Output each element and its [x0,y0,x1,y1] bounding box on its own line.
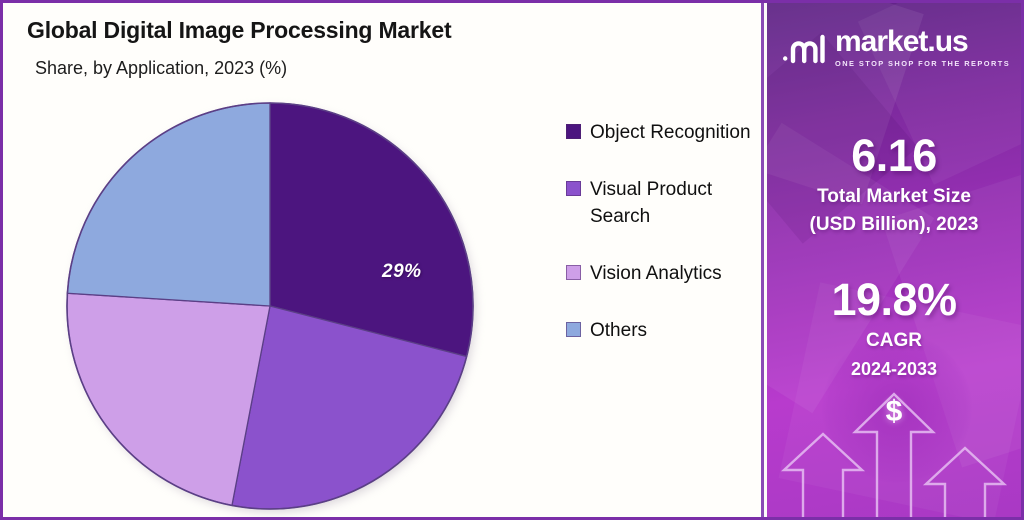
stat-market-size: 6.16 Total Market Size (USD Billion), 20… [767,131,1021,237]
pie-slice-label-object-recognition: 29% [382,261,422,283]
cagr-caption-line2: 2024-2033 [767,357,1021,381]
legend-label-object-recognition: Object Recognition [590,119,751,146]
legend-label-others: Others [590,317,647,344]
logo-text-block: market.us ONE STOP SHOP FOR THE REPORTS [835,27,1010,68]
pie-slice-group [67,103,473,509]
market-us-logo-icon [781,31,827,65]
brand-logo[interactable]: market.us ONE STOP SHOP FOR THE REPORTS [781,27,1010,68]
legend-label-vision-analytics: Vision Analytics [590,260,722,287]
legend-swatch-icon-others [566,322,581,337]
cagr-caption-line1: CAGR [767,329,1021,353]
pie-svg [65,101,475,511]
legend-item-object-recognition[interactable]: Object Recognition [566,119,756,146]
legend-swatch-icon-visual-product-search [566,181,581,196]
legend-item-vision-analytics[interactable]: Vision Analytics [566,260,756,287]
chart-legend: Object Recognition Visual Product Search… [566,119,756,374]
legend-label-visual-product-search: Visual Product Search [590,176,756,230]
growth-arrows-icon [767,392,1021,517]
chart-title: Global Digital Image Processing Market [27,17,451,44]
legend-item-visual-product-search[interactable]: Visual Product Search [566,176,756,230]
stats-panel: market.us ONE STOP SHOP FOR THE REPORTS … [767,3,1021,517]
legend-swatch-icon-object-recognition [566,124,581,139]
logo-tagline: ONE STOP SHOP FOR THE REPORTS [835,59,1010,68]
market-infographic: Global Digital Image Processing Market S… [0,0,1024,520]
logo-wordmark: market.us [835,27,1010,57]
market-size-caption-line2: (USD Billion), 2023 [767,213,1021,237]
stat-cagr: 19.8% CAGR 2024-2033 [767,275,1021,381]
market-size-caption-line1: Total Market Size [767,185,1021,209]
cagr-value: 19.8% [767,275,1021,325]
legend-item-others[interactable]: Others [566,317,756,344]
pie-chart: 29% [65,101,481,517]
legend-swatch-icon-vision-analytics [566,265,581,280]
market-size-value: 6.16 [767,131,1021,181]
chart-subtitle: Share, by Application, 2023 (%) [35,58,287,79]
chart-panel: Global Digital Image Processing Market S… [3,3,764,517]
pie-slice[interactable] [67,103,270,306]
